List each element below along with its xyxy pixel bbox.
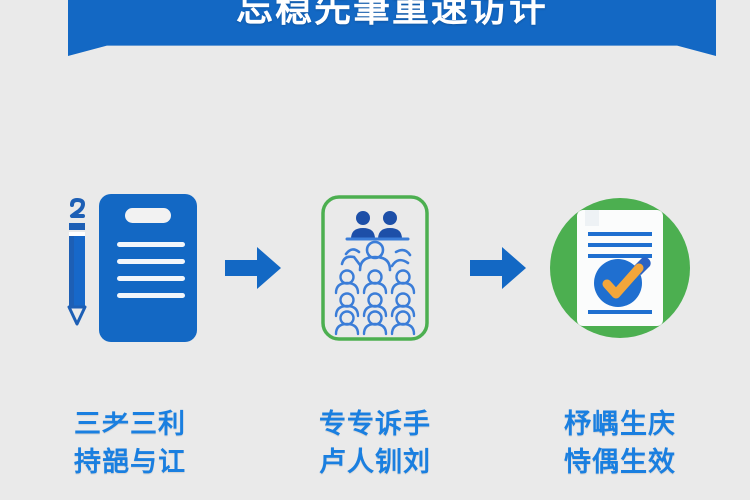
audience-meeting-icon <box>320 194 430 342</box>
flow-step-2[interactable] <box>290 181 460 356</box>
caption-step-1-line1: 三耂三利 <box>74 409 186 439</box>
clipboard-with-pen-icon <box>55 186 205 351</box>
flow-arrow-1 <box>215 181 290 356</box>
caption-row: 三耂三利 持郶与讧 专专诉手 卢人钏刘 杼嵎生庆 恃偶生效 <box>0 405 750 500</box>
header-banner: 忘稳先筆重速访讦 <box>0 0 750 58</box>
page-title: 忘稳先筆重速访讦 <box>68 0 716 36</box>
caption-step-2-line2: 卢人钏刘 <box>290 443 460 481</box>
audience-rows <box>336 271 414 335</box>
pen-icon <box>69 200 85 324</box>
arrow-right-icon <box>225 247 281 289</box>
caption-step-1: 三耂三利 持郶与讧 <box>45 405 215 481</box>
caption-step-3-line2: 恃偶生效 <box>535 443 705 481</box>
arrow-right-icon <box>470 247 526 289</box>
flow-step-1[interactable] <box>45 181 215 356</box>
audience-row-1 <box>342 242 410 270</box>
approved-document-icon <box>545 188 695 348</box>
caption-step-3: 杼嵎生庆 恃偶生效 <box>535 405 705 481</box>
presenter-figures <box>347 211 408 239</box>
caption-step-2-line1: 专专诉手 <box>319 409 431 439</box>
caption-step-1-line2: 持郶与讧 <box>45 443 215 481</box>
clipboard-icon <box>99 194 197 342</box>
caption-step-3-line1: 杼嵎生庆 <box>564 409 676 439</box>
flow-arrow-2 <box>460 181 535 356</box>
process-flow <box>0 178 750 358</box>
flow-step-3[interactable] <box>535 181 705 356</box>
caption-step-2: 专专诉手 卢人钏刘 <box>290 405 460 481</box>
